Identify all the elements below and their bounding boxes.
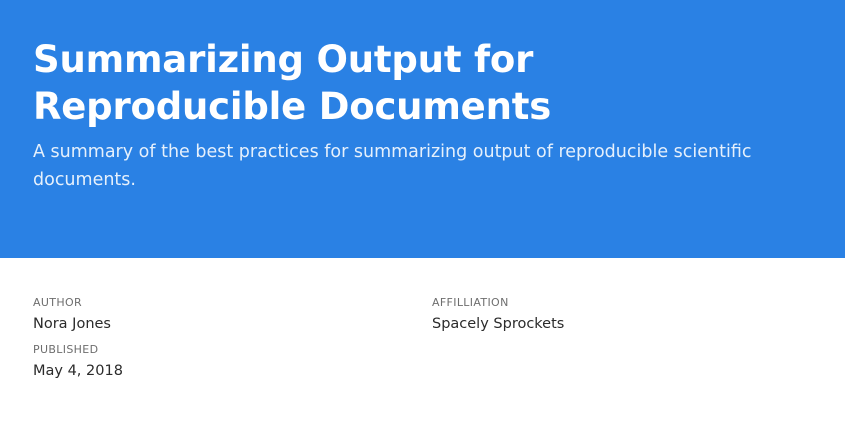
author-label: AUTHOR [33,296,432,311]
metadata-field-published: PUBLISHED May 4, 2018 [33,343,432,382]
affiliation-label: AFFILLIATION [432,296,812,311]
metadata-field-affiliation: AFFILLIATION Spacely Sprockets [432,296,812,335]
document-page: Summarizing Output for Reproducible Docu… [0,0,845,444]
metadata-grid: AUTHOR Nora Jones PUBLISHED May 4, 2018 … [33,296,813,382]
author-value: Nora Jones [33,314,432,335]
metadata-column-affiliation: AFFILLIATION Spacely Sprockets [432,296,812,335]
affiliation-value: Spacely Sprockets [432,314,812,335]
title-banner: Summarizing Output for Reproducible Docu… [0,0,845,258]
page-subtitle: A summary of the best practices for summ… [33,138,795,195]
page-title: Summarizing Output for Reproducible Docu… [33,36,733,131]
metadata-area: AUTHOR Nora Jones PUBLISHED May 4, 2018 … [0,258,845,444]
published-value: May 4, 2018 [33,361,432,382]
metadata-field-author: AUTHOR Nora Jones [33,296,432,335]
metadata-column-author: AUTHOR Nora Jones PUBLISHED May 4, 2018 [33,296,432,382]
title-block: Summarizing Output for Reproducible Docu… [33,36,793,195]
published-label: PUBLISHED [33,343,432,358]
